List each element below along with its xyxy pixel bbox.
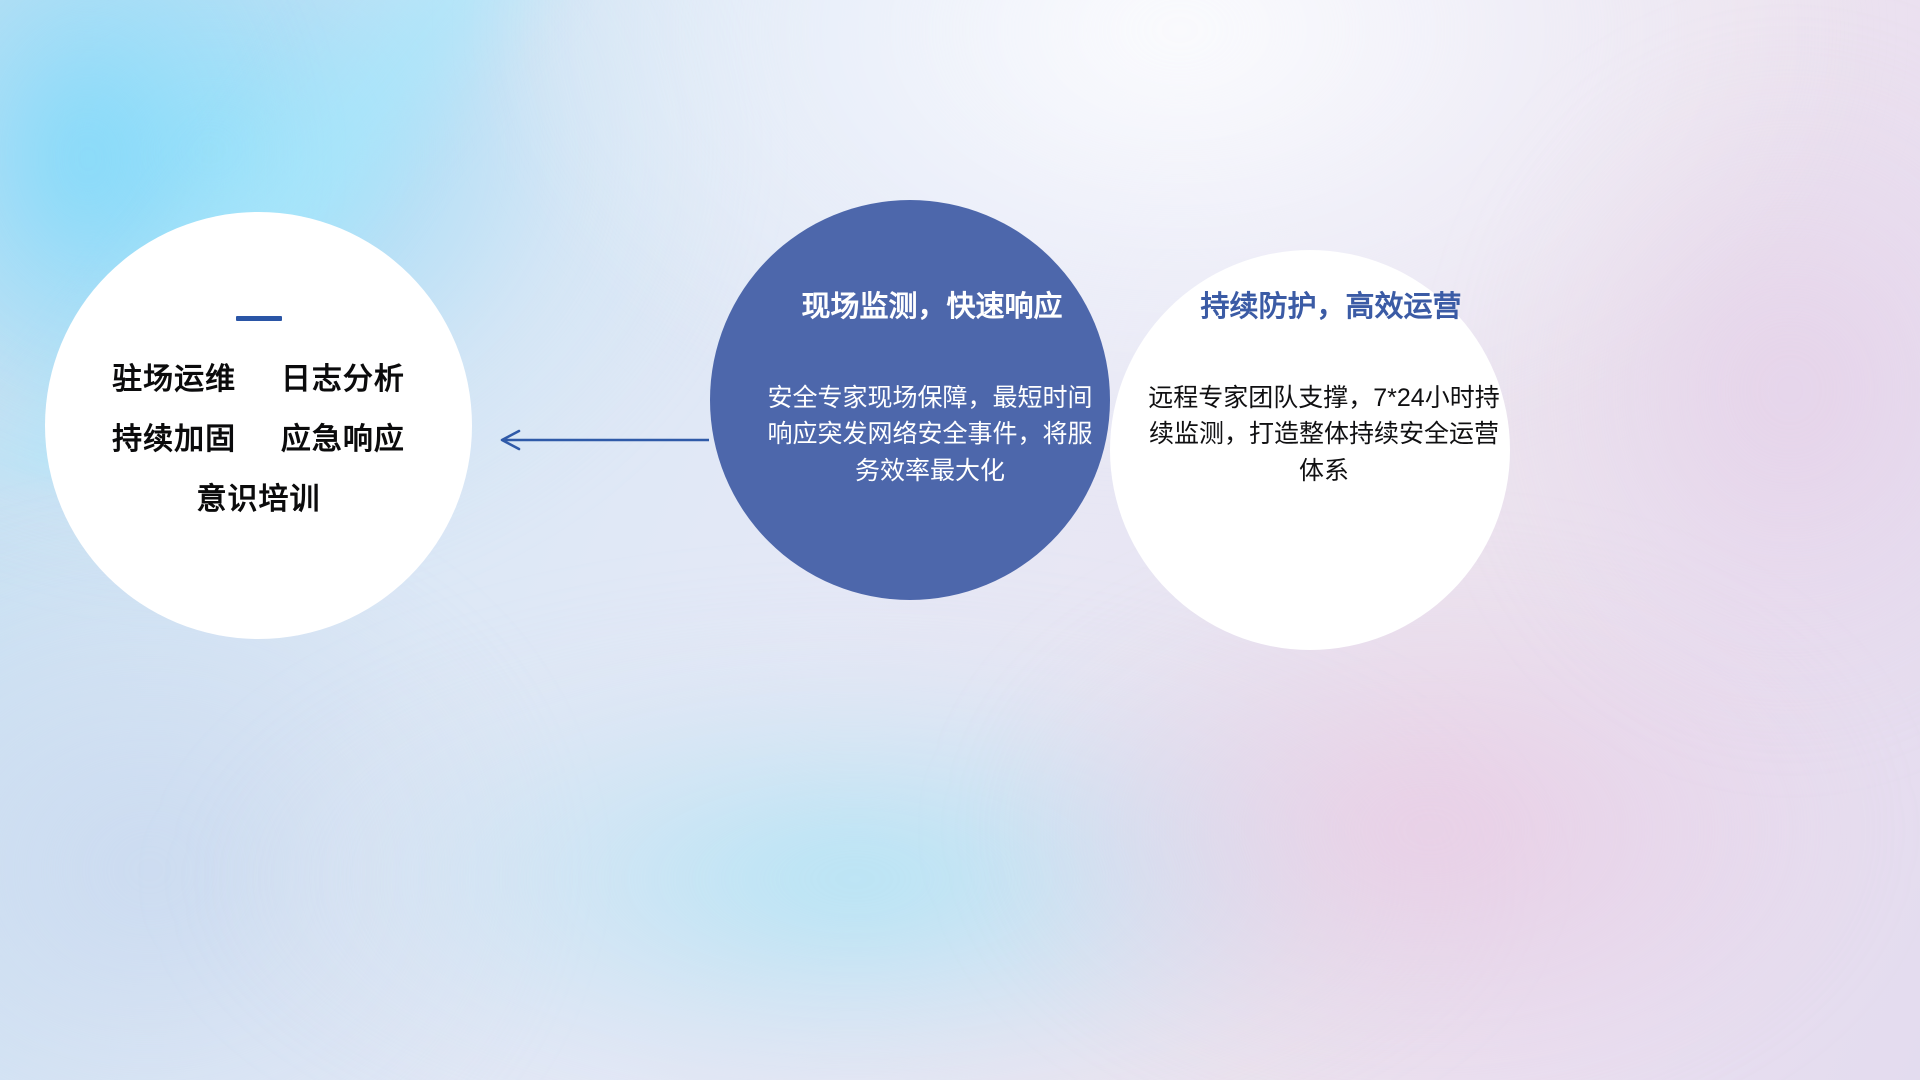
- middle-circle-body: 安全专家现场保障，最短时间响应突发网络安全事件，将服务效率最大化: [765, 380, 1095, 490]
- left-circle-divider: [236, 316, 282, 321]
- left-circle-line-2: 持续加固 应急响应: [112, 425, 405, 455]
- left-circle-line-1-a: 驻场运维: [112, 363, 236, 396]
- left-circle-line-2-b: 应急响应: [281, 423, 405, 456]
- right-circle-title: 持续防护，高效运营: [1200, 292, 1461, 324]
- left-circle-line-3: 意识培训: [197, 485, 321, 515]
- right-circle-content: 持续防护，高效运营 远程专家团队支撑，7*24小时持续监测，打造整体持续安全运营…: [1110, 250, 1510, 650]
- left-circle-content: 驻场运维 日志分析 持续加固 应急响应 意识培训: [45, 212, 472, 639]
- left-circle-line-1-b: 日志分析: [281, 363, 405, 396]
- left-circle-line-1: 驻场运维 日志分析: [112, 365, 405, 395]
- left-circle-line-2-a: 持续加固: [112, 423, 236, 456]
- background-glow-pink-right: [1480, 40, 1920, 740]
- middle-circle-content: 现场监测，快速响应 安全专家现场保障，最短时间响应突发网络安全事件，将服务效率最…: [710, 200, 1110, 600]
- right-circle-body: 远程专家团队支撑，7*24小时持续监测，打造整体持续安全运营体系: [1144, 380, 1504, 490]
- arrow-icon: [495, 424, 710, 456]
- middle-circle-title: 现场监测，快速响应: [801, 292, 1062, 324]
- left-pointing-arrow: [495, 424, 710, 456]
- slide-canvas: 驻场运维 日志分析 持续加固 应急响应 意识培训 现场监测，快速响应 安全专家现…: [0, 0, 1920, 1080]
